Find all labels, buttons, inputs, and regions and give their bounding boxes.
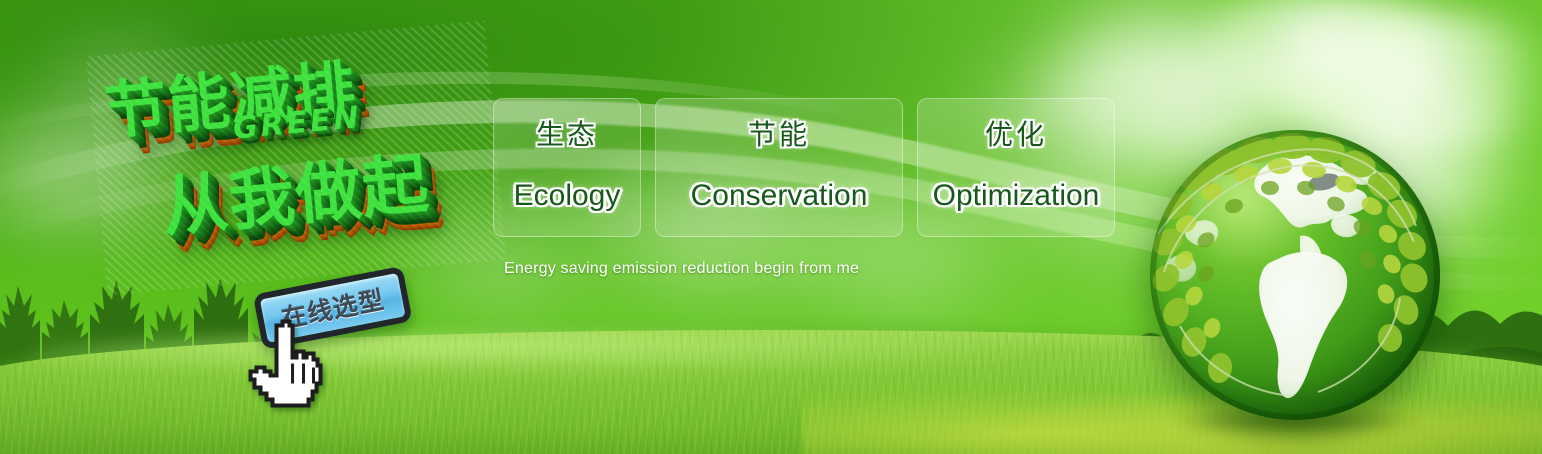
feature-card-optimization[interactable]: 优化 Optimization bbox=[917, 98, 1115, 237]
globe-sphere bbox=[1150, 130, 1440, 420]
globe-continents bbox=[1150, 130, 1440, 420]
feature-card-title-cn: 节能 bbox=[748, 121, 810, 149]
feature-card-conservation[interactable]: 节能 Conservation bbox=[655, 98, 903, 237]
feature-card-title-en: Optimization bbox=[933, 181, 1100, 211]
main-title-art: 节能减排 GREEN 从我做起 bbox=[86, 20, 506, 295]
title-line-bottom: 从我做起 bbox=[157, 130, 433, 250]
feature-card-ecology[interactable]: 生态 Ecology bbox=[493, 98, 641, 237]
feature-card-title-cn: 生态 bbox=[536, 121, 598, 149]
leafy-earth-globe-icon bbox=[1140, 120, 1450, 430]
pointing-hand-cursor-icon bbox=[249, 318, 327, 410]
grass-highlight bbox=[25, 334, 1096, 374]
green-energy-banner: 节能减排 GREEN 从我做起 在线选型 生态 Ecology 节能 Conse… bbox=[0, 0, 1542, 454]
feature-card-title-cn: 优化 bbox=[985, 121, 1047, 149]
banner-tagline: Energy saving emission reduction begin f… bbox=[504, 260, 859, 278]
feature-cards: 生态 Ecology 节能 Conservation 优化 Optimizati… bbox=[493, 98, 1115, 237]
feature-card-title-en: Ecology bbox=[514, 181, 621, 211]
feature-card-title-en: Conservation bbox=[691, 181, 868, 211]
